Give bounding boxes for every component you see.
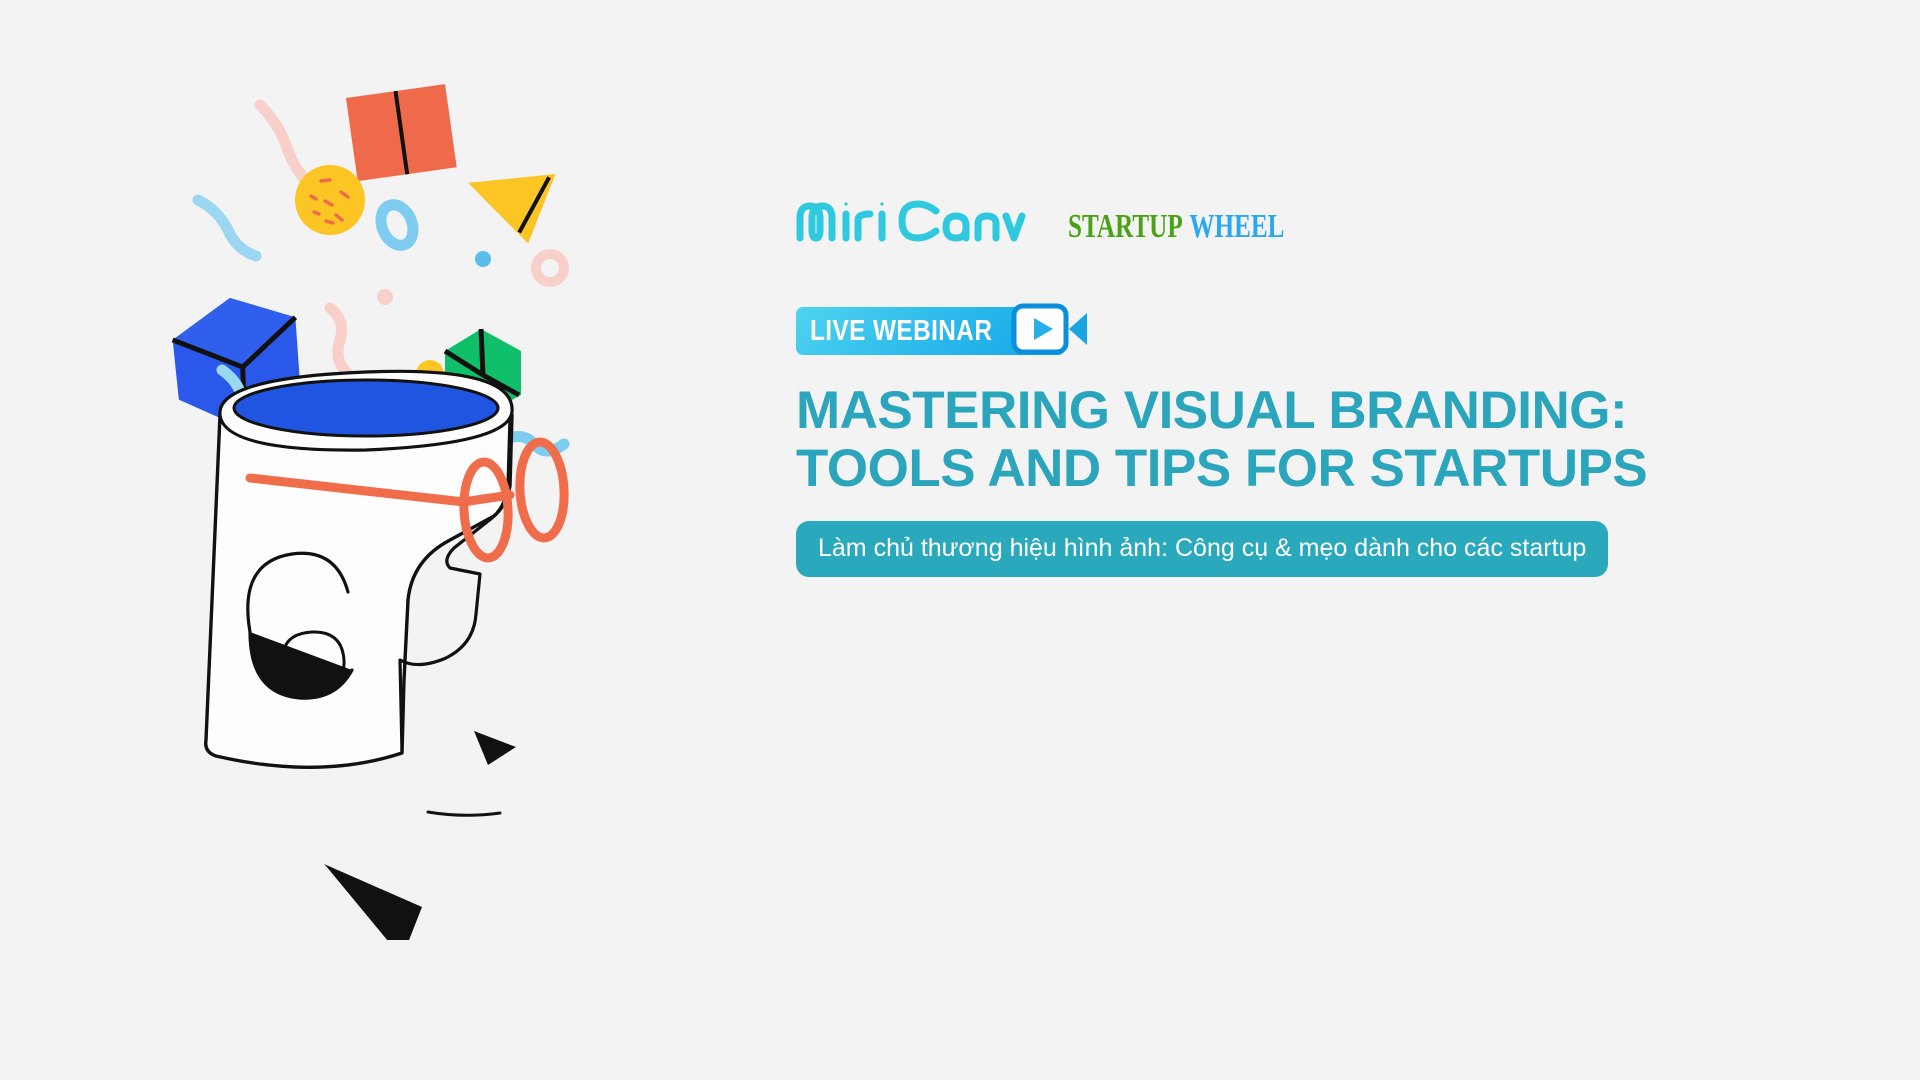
mouth-line — [428, 812, 500, 815]
orange-book-icon — [346, 84, 457, 181]
nostril-shadow — [474, 731, 516, 765]
logo-row: STARTUP WHEEL — [796, 195, 1796, 247]
poster-canvas: STARTUP WHEEL LIVE WEBINAR MASTERING VIS… — [0, 0, 1920, 1080]
head-group — [206, 371, 567, 940]
pink-ring-icon — [536, 254, 564, 282]
subtitle-text: Làm chủ thương hiệu hình ảnh: Công cụ & … — [818, 534, 1586, 562]
content-column: STARTUP WHEEL LIVE WEBINAR MASTERING VIS… — [796, 195, 1796, 577]
page-title: MASTERING VISUAL BRANDING: TOOLS AND TIP… — [796, 382, 1796, 499]
video-camera-icon — [1011, 303, 1089, 360]
pink-squiggle-mid-icon — [330, 308, 348, 374]
miricanvas-logo[interactable] — [796, 200, 1042, 247]
head-opening — [220, 371, 512, 450]
wheel-word: WHEEL — [1189, 210, 1284, 244]
live-webinar-label: LIVE WEBINAR — [810, 317, 1011, 346]
open-head-illustration — [150, 40, 750, 940]
blue-ring-icon — [375, 200, 419, 250]
pink-dot-icon — [377, 289, 393, 305]
subtitle-bar: Làm chủ thương hiệu hình ảnh: Công cụ & … — [796, 521, 1608, 577]
chin-shadow — [324, 864, 422, 940]
blue-squiggle-icon — [198, 200, 256, 256]
brain-fill — [234, 380, 498, 436]
yellow-triangle-icon — [462, 165, 555, 246]
title-line-2: TOOLS AND TIPS FOR STARTUPS — [796, 440, 1796, 498]
blue-dot-icon — [475, 251, 491, 267]
yellow-dotted-circle-icon — [295, 165, 365, 235]
startup-word: STARTUP — [1068, 210, 1183, 244]
startup-wheel-logo[interactable]: STARTUP WHEEL — [1068, 210, 1284, 247]
title-line-1: MASTERING VISUAL BRANDING: — [796, 382, 1796, 440]
head-outline — [206, 415, 512, 767]
pink-squiggle-icon — [260, 105, 308, 183]
live-webinar-row: LIVE WEBINAR — [796, 306, 1796, 356]
